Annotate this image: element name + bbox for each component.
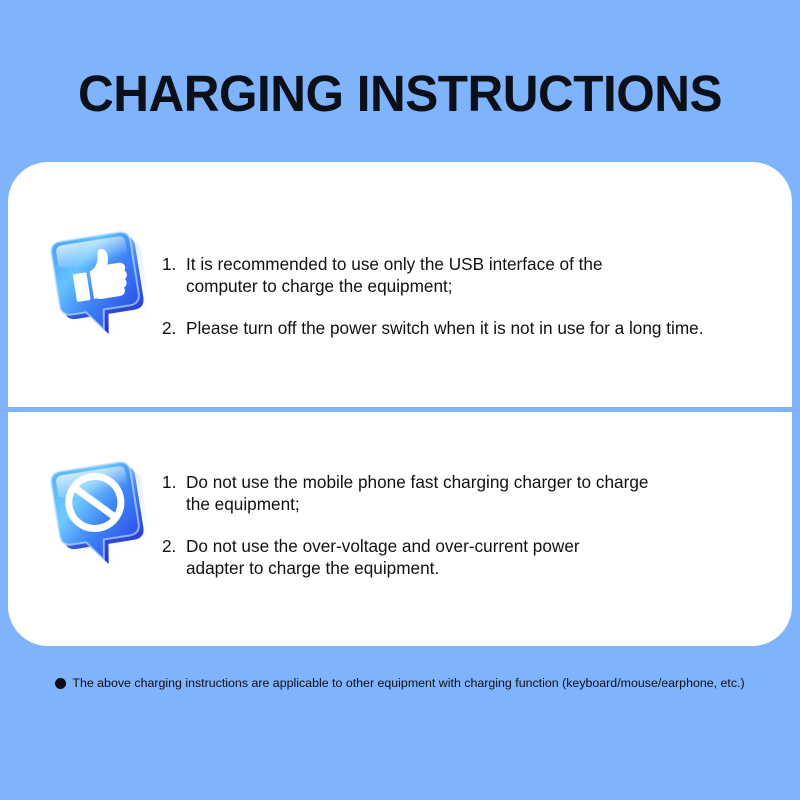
list-item: 2. Do not use the over-voltage and over-…: [162, 536, 774, 579]
thumbs-up-speech-bubble-icon: [30, 218, 154, 342]
recommended-list: 1. It is recommended to use only the USB…: [162, 254, 774, 340]
charging-instructions-page: CHARGING INSTRUCTIONS: [0, 0, 800, 800]
prohibited-list: 1. Do not use the mobile phone fast char…: [162, 472, 774, 579]
list-item-number: 2.: [162, 536, 186, 558]
page-title: CHARGING INSTRUCTIONS: [12, 68, 788, 119]
list-item-line: Do not use the mobile phone fast chargin…: [186, 472, 774, 494]
instructions-card: 1. It is recommended to use only the USB…: [8, 162, 792, 646]
list-item: 1. It is recommended to use only the USB…: [162, 254, 774, 297]
list-item-line: Please turn off the power switch when it…: [186, 318, 774, 340]
bullet-icon: [55, 678, 66, 689]
list-item: 1. Do not use the mobile phone fast char…: [162, 472, 774, 515]
list-item-line: the equipment;: [186, 494, 774, 516]
list-item-number: 2.: [162, 318, 186, 340]
list-item-body: It is recommended to use only the USB in…: [186, 254, 774, 297]
list-item-number: 1.: [162, 254, 186, 276]
footer-note: The above charging instructions are appl…: [0, 676, 800, 690]
list-item-line: adapter to charge the equipment.: [186, 558, 774, 580]
list-item: 2. Please turn off the power switch when…: [162, 318, 774, 340]
section-prohibited: 1. Do not use the mobile phone fast char…: [8, 412, 792, 646]
list-item-line: computer to charge the equipment;: [186, 276, 774, 298]
footer-note-text: The above charging instructions are appl…: [72, 676, 744, 690]
list-item-body: Do not use the over-voltage and over-cur…: [186, 536, 774, 579]
list-item-line: It is recommended to use only the USB in…: [186, 254, 774, 276]
section-recommended: 1. It is recommended to use only the USB…: [8, 162, 792, 408]
list-item-number: 1.: [162, 472, 186, 494]
prohibition-speech-bubble-icon: [30, 448, 154, 572]
list-item-line: Do not use the over-voltage and over-cur…: [186, 536, 774, 558]
list-item-body: Please turn off the power switch when it…: [186, 318, 774, 340]
list-item-body: Do not use the mobile phone fast chargin…: [186, 472, 774, 515]
